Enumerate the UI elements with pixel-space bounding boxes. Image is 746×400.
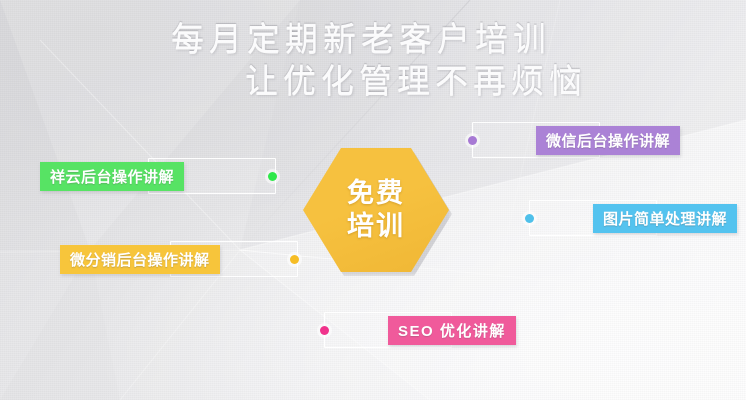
hexagon-label-line-2: 培训 (347, 210, 405, 243)
callout-label[interactable]: 祥云后台操作讲解 (40, 162, 184, 191)
callout-dot (290, 255, 299, 264)
free-training-hexagon-badge[interactable]: 免费 培训 (303, 148, 449, 272)
callout-image-editing[interactable]: 图片简单处理讲解 (517, 200, 737, 236)
callout-seo-optimization[interactable]: SEO 优化讲解 (312, 312, 512, 348)
callout-label[interactable]: 微信后台操作讲解 (536, 126, 680, 155)
hexagon-label: 免费 培训 (303, 148, 449, 272)
callout-dot (268, 172, 277, 181)
callout-dot (525, 214, 534, 223)
callout-label[interactable]: 微分销后台操作讲解 (60, 245, 220, 274)
callout-label[interactable]: SEO 优化讲解 (388, 316, 516, 345)
callout-dot (320, 326, 329, 335)
callout-wechat-backend[interactable]: 微信后台操作讲解 (460, 122, 680, 158)
callout-micro-distribution-backend[interactable]: 微分销后台操作讲解 (60, 241, 308, 277)
callout-label[interactable]: 图片简单处理讲解 (593, 204, 737, 233)
hexagon-label-line-1: 免费 (347, 177, 405, 210)
promo-banner: 每月定期新老客户培训 让优化管理不再烦恼 免费 培训 微信后台操作讲解 图片简单… (0, 0, 746, 400)
callout-dot (468, 136, 477, 145)
callout-xiangyun-backend[interactable]: 祥云后台操作讲解 (40, 158, 285, 194)
